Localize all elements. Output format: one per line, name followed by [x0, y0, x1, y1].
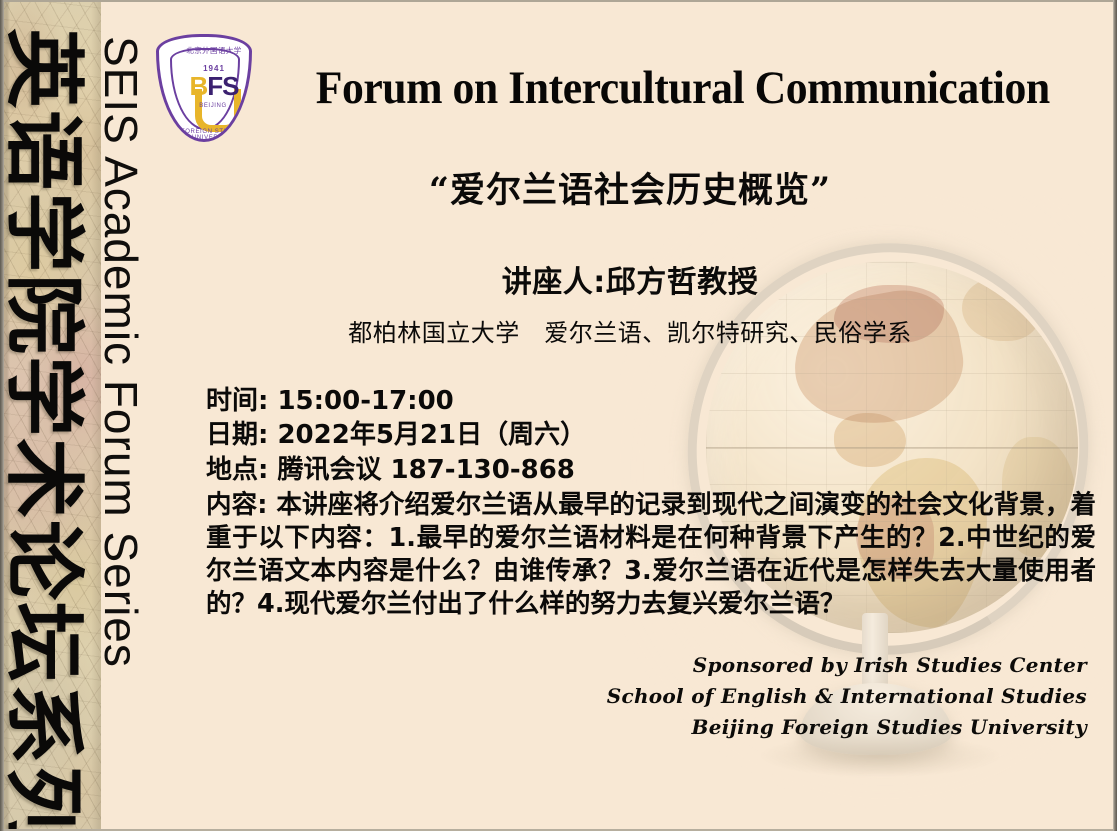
poster-root: SEIS Academic Forum Series 英语学院学术论坛系列 北京… — [0, 0, 1117, 831]
lecture-details: 时间: 15:00-17:00 日期: 2022年5月21日（周六） 地点: 腾… — [150, 384, 1110, 487]
lecture-date: 日期: 2022年5月21日（周六） — [206, 418, 1110, 452]
logo-arc-university: FOREIGN STUDIES UNIVERSITY — [169, 129, 252, 141]
logo-arc-beijing: BEIJING — [169, 103, 252, 109]
footer-line-sponsor: Sponsored by Irish Studies Center — [607, 650, 1087, 681]
logo-initial-b: B — [189, 71, 207, 101]
lecture-venue: 地点: 腾讯会议 187-130-868 — [206, 453, 1110, 487]
shield-icon: 北京外国语大学 1941 BFS BEIJING FOREIGN STUDIES… — [156, 34, 252, 142]
side-banner-chinese: 英语学院学术论坛系列 — [0, 0, 108, 831]
poster-border-right — [1113, 0, 1117, 831]
bfsu-logo: 北京外国语大学 1941 BFS BEIJING FOREIGN STUDIES… — [150, 30, 258, 146]
lecture-abstract: 内容: 本讲座将介绍爱尔兰语从最早的记录到现代之间演变的社会文化背景，着重于以下… — [150, 489, 1110, 622]
logo-chinese-name: 北京外国语大学 — [174, 45, 252, 56]
lecture-title: “爱尔兰语社会历史概览” — [150, 162, 1110, 213]
logo-initials-fs: FS — [207, 71, 238, 101]
lecture-affiliation: 都柏林国立大学 爱尔兰语、凯尔特研究、民俗学系 — [150, 313, 1110, 348]
lecture-time: 时间: 15:00-17:00 — [206, 384, 1110, 418]
lecture-speaker: 讲座人:邱方哲教授 — [150, 257, 1110, 301]
page-title: Forum on Intercultural Communication — [287, 61, 1070, 115]
poster-header: 北京外国语大学 1941 BFS BEIJING FOREIGN STUDIES… — [150, 28, 1100, 148]
poster-border-left — [0, 0, 4, 831]
poster-content: “爱尔兰语社会历史概览” 讲座人:邱方哲教授 都柏林国立大学 爱尔兰语、凯尔特研… — [150, 150, 1110, 622]
logo-initials: BFS — [177, 71, 251, 102]
footer-line-university: Beijing Foreign Studies University — [607, 712, 1087, 743]
poster-footer: Sponsored by Irish Studies Center School… — [607, 650, 1087, 743]
footer-line-school: School of English & International Studie… — [607, 681, 1087, 712]
poster-border-top — [0, 0, 1117, 2]
